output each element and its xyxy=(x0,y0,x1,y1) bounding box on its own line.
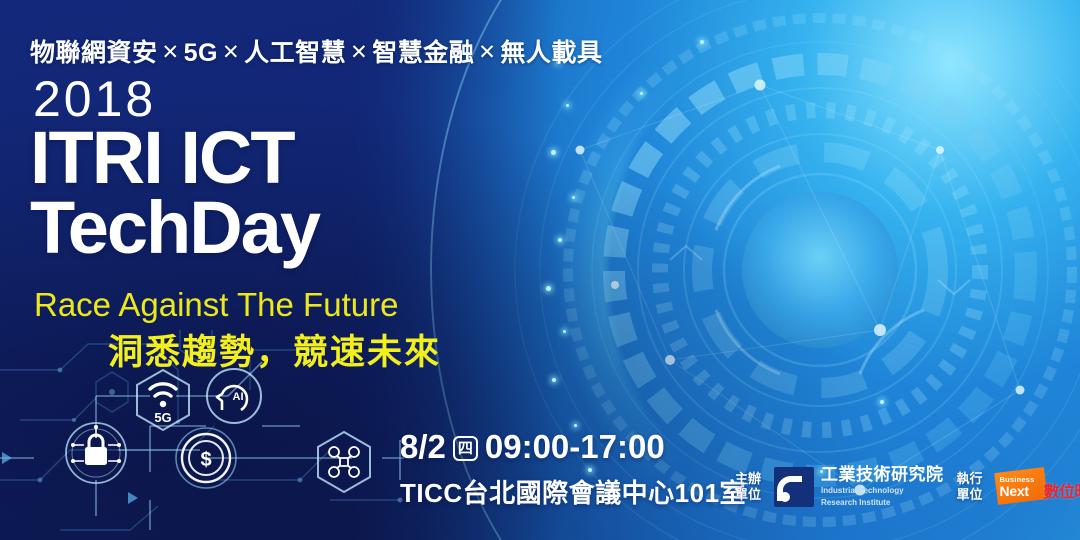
separator-2: ✕ xyxy=(218,41,244,64)
itri-name-en-line2: Research Institute xyxy=(821,498,944,508)
bnext-wordmark: Business Next xyxy=(1000,476,1035,499)
topic-1: 物聯網資安 xyxy=(30,39,158,67)
topic-5: 無人載具 xyxy=(500,39,602,67)
executor-label-line2: 單位 xyxy=(957,487,983,503)
weekday-badge: 四 xyxy=(453,436,478,461)
sponsor-bar: 主辦 單位 工業技術研究院 Industrial Technology Rese… xyxy=(735,466,1080,508)
organizer-label-line2: 單位 xyxy=(735,487,761,503)
event-datetime: 8/2 四 09:00-17:00 xyxy=(400,428,665,466)
separator-1: ✕ xyxy=(158,41,184,64)
bnext-next-text: Next xyxy=(1000,484,1035,498)
organizer-label: 主辦 單位 xyxy=(735,471,761,504)
executor-label: 執行 單位 xyxy=(957,471,983,504)
separator-4: ✕ xyxy=(474,41,500,64)
organizer-label-line1: 主辦 xyxy=(735,471,761,487)
event-banner: 5G AI $ xyxy=(0,0,1080,540)
event-venue: TICC台北國際會議中心101室 xyxy=(400,473,746,510)
topic-3: 人工智慧 xyxy=(244,39,346,67)
business-next-logo: Business Next 數位時代 xyxy=(996,469,1080,505)
topic-tagline: 物聯網資安✕5G✕人工智慧✕智慧金融✕無人載具 xyxy=(30,33,602,69)
event-date: 8/2 xyxy=(400,428,446,466)
bnext-name-zh: 數位時代 xyxy=(1044,478,1080,502)
slogan-chinese: 洞悉趨勢，競速未來 xyxy=(108,324,441,375)
event-time: 09:00-17:00 xyxy=(485,428,665,466)
separator-3: ✕ xyxy=(346,41,372,64)
topic-2: 5G xyxy=(184,39,218,67)
itri-name-zh: 工業技術研究院 xyxy=(821,466,944,484)
topic-4: 智慧金融 xyxy=(372,39,474,67)
itri-logo: 工業技術研究院 Industrial Technology Research I… xyxy=(774,466,944,508)
bnext-business-text: Business xyxy=(1000,476,1035,484)
event-title-line1: ITRI ICT xyxy=(30,124,294,192)
itri-name-block: 工業技術研究院 Industrial Technology Research I… xyxy=(821,466,944,508)
slogan-english: Race Against The Future xyxy=(34,286,398,324)
itri-name-en-line1: Industrial Technology xyxy=(821,486,944,496)
itri-arc-icon xyxy=(774,467,814,507)
event-title-line2: TechDay xyxy=(30,194,319,262)
executor-label-line1: 執行 xyxy=(957,471,983,487)
